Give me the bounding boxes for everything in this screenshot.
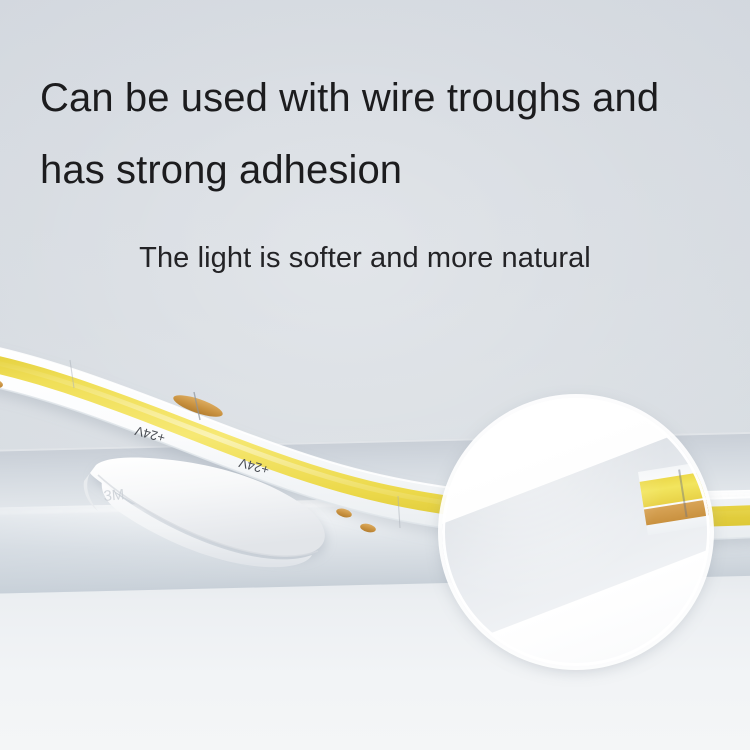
liner-printed-text: 3M xyxy=(103,486,125,505)
product-image-canvas: Can be used with wire troughs and has st… xyxy=(0,0,750,750)
headline-text: Can be used with wire troughs and has st… xyxy=(40,62,740,206)
solder-pad xyxy=(359,522,376,534)
marketing-text-block: Can be used with wire troughs and has st… xyxy=(0,0,750,310)
magnifier-content xyxy=(442,398,710,666)
liner-shape: 3M xyxy=(62,455,352,585)
subheadline-text: The light is softer and more natural xyxy=(0,238,750,278)
magnifier-detail-circle xyxy=(442,398,710,666)
adhesive-backing-liner: 3M xyxy=(62,455,352,585)
liner-left-tip xyxy=(84,473,98,511)
